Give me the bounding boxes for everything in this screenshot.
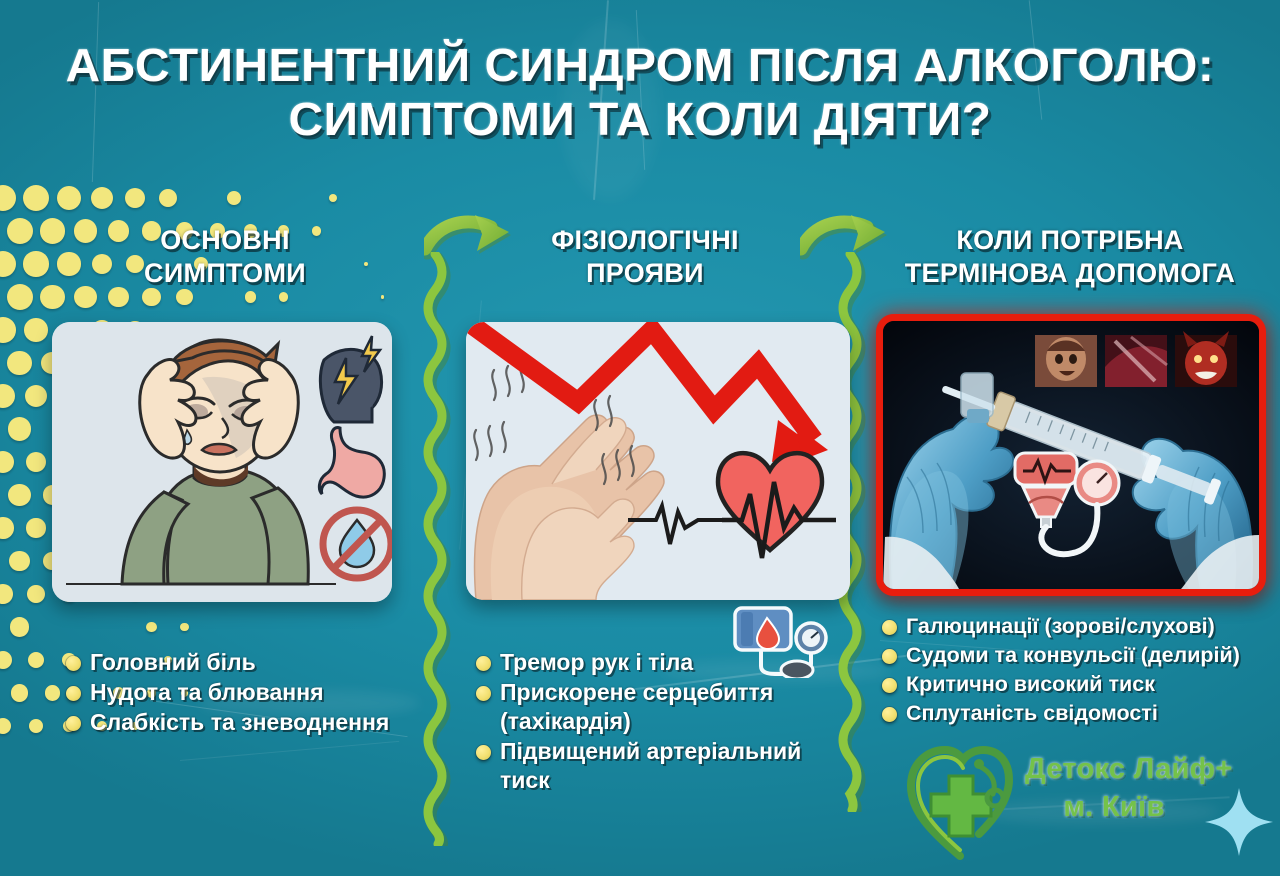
list-item: Головний біль — [66, 648, 411, 677]
column-heading-symptoms: ОСНОВНІ СИМПТОМИ — [60, 224, 390, 290]
title-line-1: АБСТИНЕНТНИЙ СИНДРОМ ПІСЛЯ АЛКОГОЛЮ: — [0, 38, 1280, 92]
bullet-dot-icon — [882, 620, 897, 635]
bullet-dot-icon — [66, 686, 81, 701]
bullet-dot-icon — [882, 678, 897, 693]
column-heading-emergency: КОЛИ ПОТРІБНА ТЕРМІНОВА ДОПОМОГА — [870, 224, 1270, 290]
list-item: Судоми та конвульсії (делирій) — [882, 641, 1272, 669]
bullet-list-emergency: Галюцинації (зорові/слухові) Судоми та к… — [882, 612, 1272, 728]
heading-line-2: ТЕРМІНОВА ДОПОМОГА — [870, 257, 1270, 290]
bullet-list-physiological: Тремор рук і тіла Прискорене серцебиття … — [476, 648, 846, 796]
bullet-dot-icon — [476, 656, 491, 671]
bullet-dot-icon — [882, 707, 897, 722]
image-card-physiological — [466, 322, 850, 600]
list-item: Тремор рук і тіла — [476, 648, 846, 677]
hallucination-thumbnails — [1035, 331, 1237, 387]
bullet-dot-icon — [66, 716, 81, 731]
list-item: Галюцинації (зорові/слухові) — [882, 612, 1272, 640]
heading-line-1: ОСНОВНІ — [60, 224, 390, 257]
image-card-emergency — [876, 314, 1266, 596]
list-item: Нудота та блювання — [66, 678, 411, 707]
wavy-divider — [418, 252, 452, 851]
image-card-symptoms — [52, 322, 392, 602]
heading-line-1: ФІЗІОЛОГІЧНІ — [470, 224, 820, 257]
brand-logo[interactable]: Детокс Лайф+ м. Київ — [905, 742, 1275, 862]
bullet-dot-icon — [66, 656, 81, 671]
list-item: Слабкість та зневоднення — [66, 708, 411, 737]
heading-line-2: ПРОЯВИ — [470, 257, 820, 290]
bullet-dot-icon — [882, 649, 897, 664]
title-line-2: СИМПТОМИ ТА КОЛИ ДІЯТИ? — [0, 92, 1280, 146]
sparkle-icon — [1203, 786, 1275, 858]
heading-line-1: КОЛИ ПОТРІБНА — [870, 224, 1270, 257]
bullet-dot-icon — [476, 686, 491, 701]
list-item: Прискорене серцебиття (тахікардія) — [476, 678, 846, 736]
list-item: Сплутаність свідомості — [882, 699, 1272, 727]
heading-line-2: СИМПТОМИ — [60, 257, 390, 290]
bullet-dot-icon — [476, 745, 491, 760]
list-item: Критично високий тиск — [882, 670, 1272, 698]
page-title: АБСТИНЕНТНИЙ СИНДРОМ ПІСЛЯ АЛКОГОЛЮ: СИМ… — [0, 38, 1280, 146]
infographic-poster: АБСТИНЕНТНИЙ СИНДРОМ ПІСЛЯ АЛКОГОЛЮ: СИМ… — [0, 0, 1280, 876]
list-item: Підвищений артеріальний тиск — [476, 737, 846, 795]
bullet-list-symptoms: Головний біль Нудота та блювання Слабкіс… — [66, 648, 411, 738]
heart-cross-stethoscope-icon — [905, 742, 1015, 860]
logo-line-1: Детокс Лайф+ — [1025, 750, 1275, 788]
column-heading-physiological: ФІЗІОЛОГІЧНІ ПРОЯВИ — [470, 224, 820, 290]
medicine-vial — [961, 373, 993, 423]
